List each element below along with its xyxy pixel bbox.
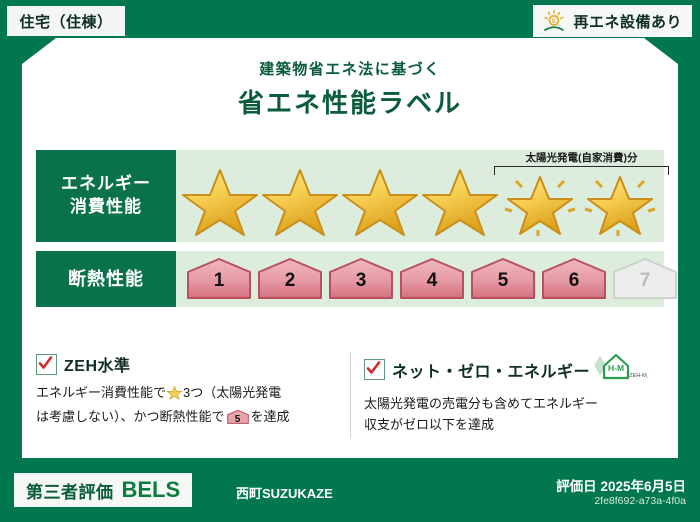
star-filled xyxy=(260,165,340,237)
evaluation-id: 2fe8f692-a73a-4f0a xyxy=(594,495,686,507)
solar-annotation: 太陽光発電(自家消費)分 xyxy=(494,150,669,175)
checkmark-icon xyxy=(36,354,57,375)
star-filled xyxy=(340,165,420,237)
zeh-desc-part2: 3つ（太陽光発電 xyxy=(183,385,281,400)
star-solar xyxy=(580,165,660,237)
label-subtitle: 建築物省エネ法に基づく xyxy=(0,58,700,79)
criteria-net-zero-header: ネット・ゼロ・エネルギー H-M 「ZEH-M」 xyxy=(364,352,664,387)
evaluation-date-label: 評価日 xyxy=(556,479,597,494)
criteria-net-zero-title: ネット・ゼロ・エネルギー xyxy=(392,358,590,382)
insulation-level-badge: 6 xyxy=(541,258,607,300)
insulation-performance-label-cell: 断熱性能 xyxy=(36,251,176,307)
insulation-level-badge: 1 xyxy=(186,258,252,300)
solar-annotation-label: 太陽光発電(自家消費)分 xyxy=(494,150,669,165)
house-level-number: 5 xyxy=(227,412,249,429)
project-name: 西町SUZUKAZE xyxy=(236,483,333,502)
criteria-zeh-description: エネルギー消費性能で3つ（太陽光発電 は考慮しない）、かつ断熱性能で5を達成 xyxy=(36,382,336,428)
insulation-performance-row: 断熱性能 1 xyxy=(36,251,664,307)
third-party-evaluation-label: 第三者評価 xyxy=(26,478,114,503)
bels-mark: BELS xyxy=(122,477,181,503)
criteria-net-zero-description: 太陽光発電の売電分も含めてエネルギー 収支がゼロ以下を達成 xyxy=(364,393,664,436)
insulation-level-group: 1 2 3 xyxy=(186,257,658,301)
energy-performance-label-cell: エネルギー 消費性能 xyxy=(36,150,176,242)
criteria-section: ZEH水準 エネルギー消費性能で3つ（太陽光発電 は考慮しない）、かつ断熱性能で… xyxy=(36,352,664,436)
energy-performance-row: エネルギー 消費性能 太陽光発電(自家消費)分 xyxy=(36,150,664,242)
ratings-section: エネルギー 消費性能 太陽光発電(自家消費)分 xyxy=(36,150,664,316)
energy-stars-panel: 太陽光発電(自家消費)分 xyxy=(176,150,664,242)
building-type-tab: 住宅（住棟） xyxy=(7,6,125,36)
zeh-desc-part3: は考慮しない）、かつ断熱性能で xyxy=(36,409,225,424)
insulation-level-badge: 2 xyxy=(257,258,323,300)
renewable-badge-label: 再エネ設備あり xyxy=(573,11,682,32)
title-block: 建築物省エネ法に基づく 省エネ性能ラベル xyxy=(0,58,700,120)
sun-icon: E xyxy=(541,8,567,34)
zeh-m-logo: H-M 「ZEH-M」 xyxy=(592,352,648,387)
star-rating-group xyxy=(180,164,660,238)
bels-certification-box: 第三者評価 BELS xyxy=(14,473,192,507)
zeh-desc-part1: エネルギー消費性能で xyxy=(36,385,166,400)
insulation-level-badge: 5 xyxy=(470,258,536,300)
page-title: 省エネ性能ラベル xyxy=(0,83,700,120)
renewable-equipment-badge: E 再エネ設備あり xyxy=(533,5,692,37)
energy-label-line2: 消費性能 xyxy=(70,196,142,219)
solar-bracket xyxy=(494,166,669,175)
insulation-level-badge: 3 xyxy=(328,258,394,300)
criteria-zeh: ZEH水準 エネルギー消費性能で3つ（太陽光発電 は考慮しない）、かつ断熱性能で… xyxy=(36,352,350,436)
star-filled xyxy=(180,165,260,237)
evaluation-date: 評価日 2025年6月5日 xyxy=(556,475,686,495)
criteria-zeh-title: ZEH水準 xyxy=(64,352,131,376)
checkmark-icon xyxy=(364,359,385,380)
insulation-levels-panel: 1 2 3 xyxy=(176,251,664,307)
energy-performance-label: 住宅（住棟） E 再エネ設備あり 建築物省エネ法に基づく 省エネ性能ラベル xyxy=(0,0,700,522)
house-level-icon: 5 xyxy=(227,409,249,425)
criteria-net-zero: ネット・ゼロ・エネルギー H-M 「ZEH-M」 太陽光発電の売電分も含めてエネ… xyxy=(350,352,664,436)
footer: 第三者評価 BELS 西町SUZUKAZE 評価日 2025年6月5日 2fe8… xyxy=(0,464,700,522)
net-zero-desc-line2: 収支がゼロ以下を達成 xyxy=(364,417,494,432)
zeh-m-logo-text: H-M xyxy=(608,363,624,373)
svg-text:E: E xyxy=(552,19,556,25)
star-filled xyxy=(420,165,500,237)
building-type-label: 住宅（住棟） xyxy=(19,11,112,32)
star-solar xyxy=(500,165,580,237)
criteria-zeh-header: ZEH水準 xyxy=(36,352,336,376)
net-zero-desc-line1: 太陽光発電の売電分も含めてエネルギー xyxy=(364,396,598,411)
zeh-desc-part4: を達成 xyxy=(251,409,290,424)
evaluation-date-value: 2025年6月5日 xyxy=(600,479,686,494)
insulation-level-badge-inactive: 7 xyxy=(612,258,678,300)
star-icon xyxy=(167,385,182,406)
insulation-level-badge: 4 xyxy=(399,258,465,300)
zeh-m-logo-caption: 「ZEH-M」 xyxy=(624,372,648,379)
energy-label-line1: エネルギー xyxy=(61,173,151,196)
insulation-label: 断熱性能 xyxy=(68,267,144,291)
